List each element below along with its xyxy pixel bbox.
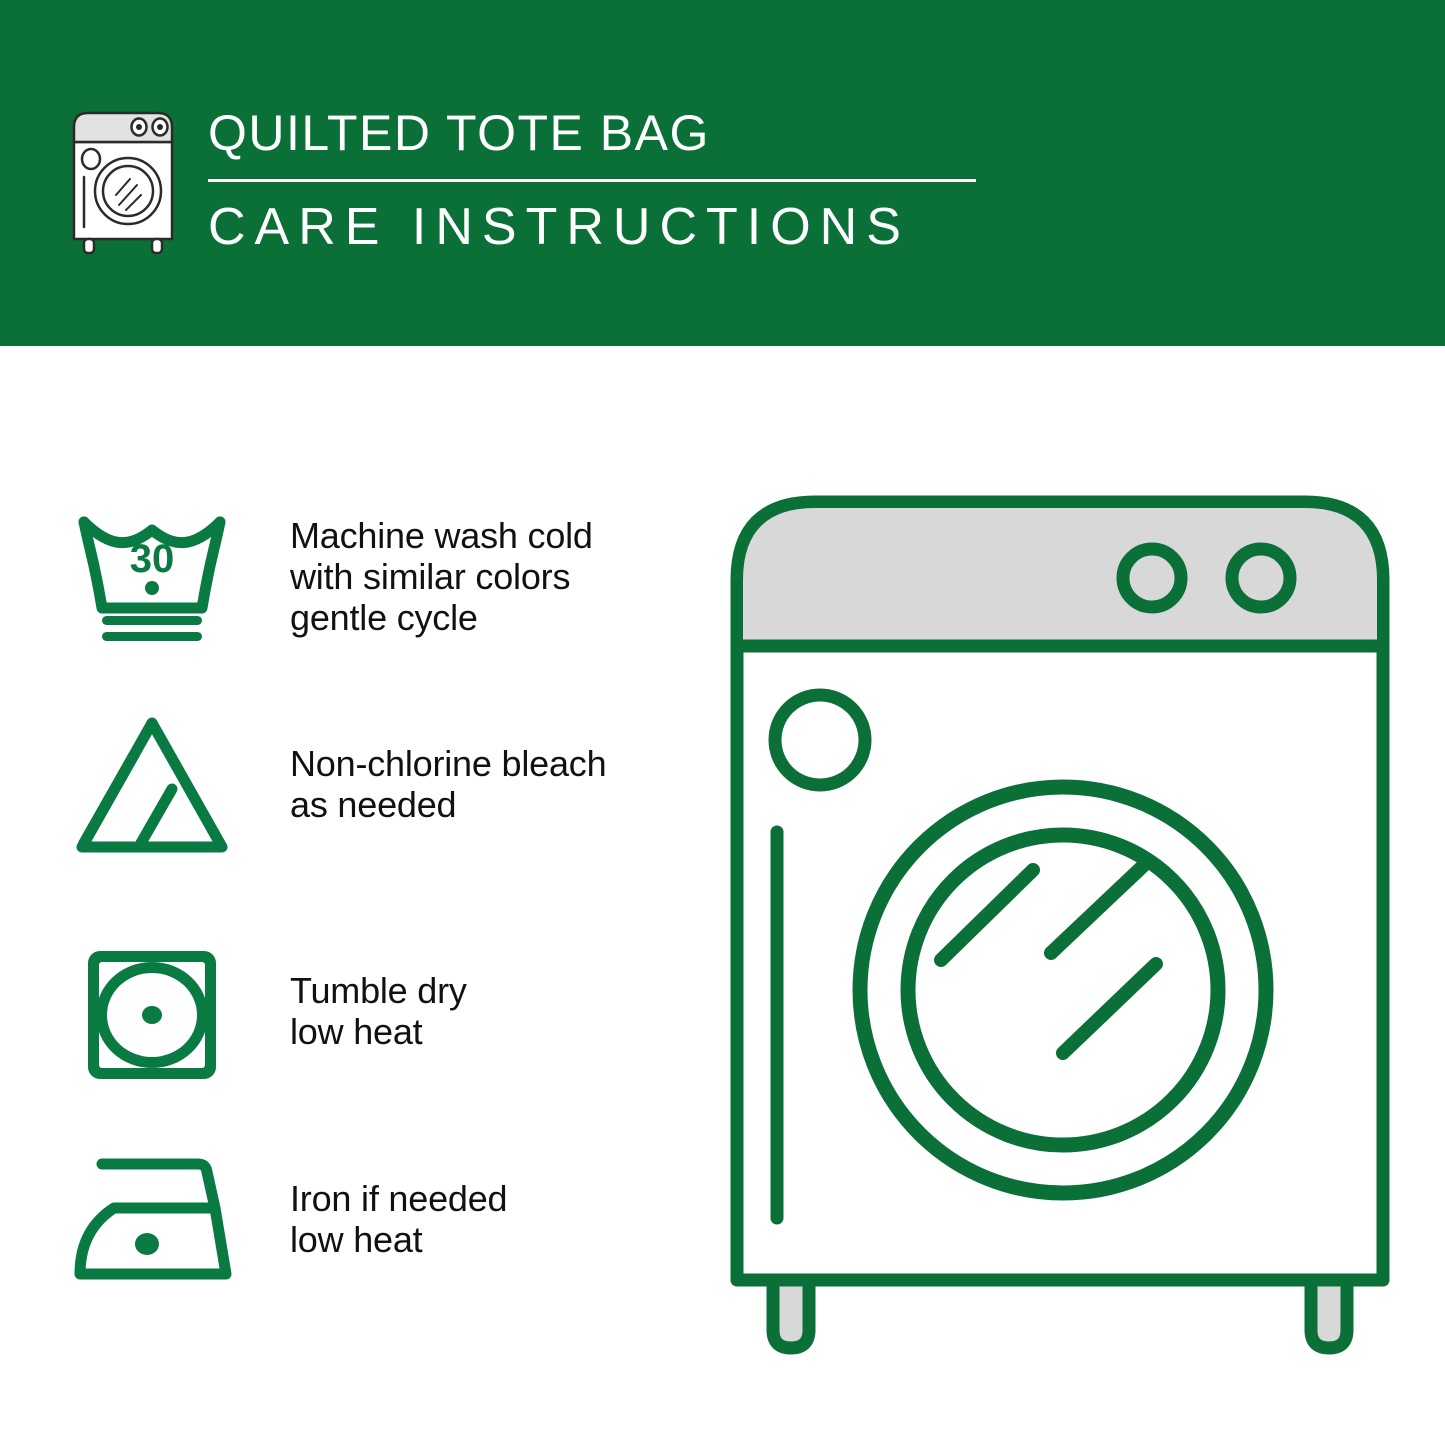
- care-text-bleach: Non-chlorine bleach as needed: [290, 743, 606, 825]
- bleach-triangle-icon: [72, 715, 232, 860]
- page-title: QUILTED TOTE BAG: [208, 104, 988, 162]
- page-subtitle: CARE INSTRUCTIONS: [208, 196, 988, 258]
- tumble-dry-icon: [82, 945, 222, 1085]
- wash-temperature-label: 30: [130, 537, 175, 581]
- care-text-iron: Iron if needed low heat: [290, 1178, 507, 1260]
- header-banner: QUILTED TOTE BAG CARE INSTRUCTIONS: [0, 0, 1445, 346]
- washing-machine-icon: [64, 105, 182, 255]
- care-text-wash: Machine wash cold with similar colors ge…: [290, 515, 593, 638]
- iron-icon: [70, 1150, 240, 1290]
- title-divider: [208, 179, 976, 182]
- care-text-dry: Tumble dry low heat: [290, 970, 467, 1052]
- washing-machine-illustration: [715, 480, 1405, 1370]
- header-text-block: QUILTED TOTE BAG CARE INSTRUCTIONS: [208, 104, 988, 258]
- wash-tub-30-icon: 30: [72, 500, 232, 650]
